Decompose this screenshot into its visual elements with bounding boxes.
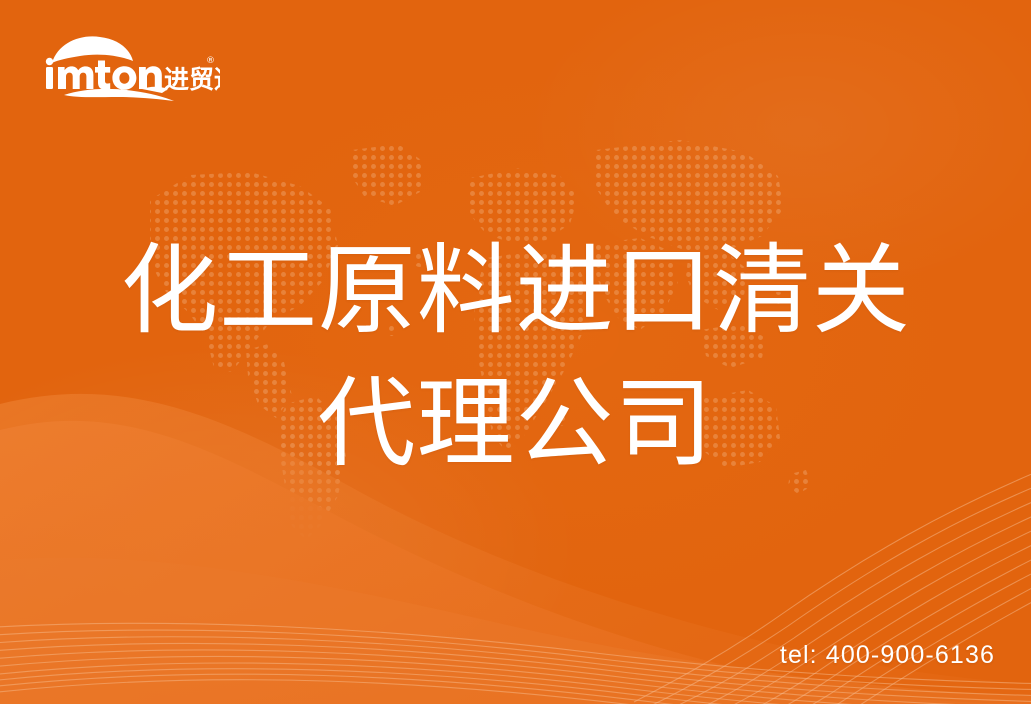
contact-phone[interactable]: tel: 400-900-6136 <box>780 641 995 670</box>
promotional-banner: 进贸通 ® 化工原料进口清关 代理公司 tel: 400-900-6136 <box>0 0 1031 704</box>
logo-chinese-name: 进贸通 <box>164 65 220 94</box>
registered-trademark-icon: ® <box>206 56 215 66</box>
imton-wordmark <box>46 58 162 90</box>
headline-line-1: 化工原料进口清关 <box>0 228 1031 355</box>
swoosh-icon <box>64 87 174 101</box>
headline: 化工原料进口清关 代理公司 <box>0 228 1031 489</box>
globe-icon <box>52 36 133 68</box>
company-logo[interactable]: 进贸通 ® <box>38 29 220 101</box>
headline-line-2: 代理公司 <box>0 361 1031 488</box>
